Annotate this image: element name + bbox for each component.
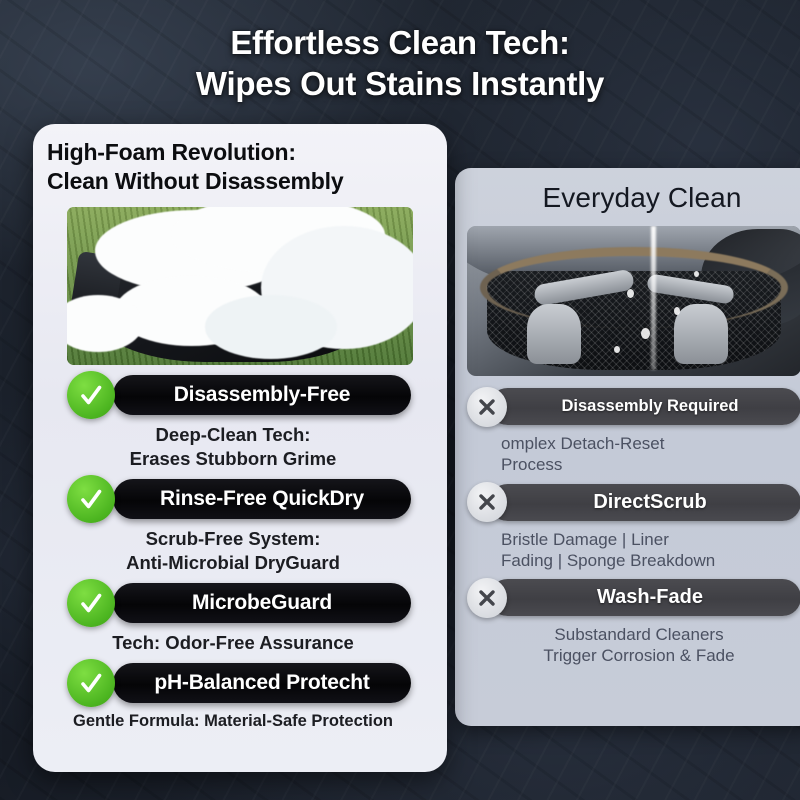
feature-item: Rinse-Free QuickDry Scrub-Free System: A…: [33, 479, 447, 583]
drawback-description: Bristle Damage | Liner Fading | Sponge B…: [467, 521, 800, 580]
feature-label: MicrobeGuard: [192, 591, 332, 615]
check-icon: [67, 475, 115, 523]
feature-desc-line-1: Deep-Clean Tech:: [53, 423, 413, 447]
feature-pill-2[interactable]: MicrobeGuard: [113, 583, 411, 623]
drawback-item: Disassembly Required omplex Detach-Reset…: [455, 388, 800, 484]
pro-title-line-1: High-Foam Revolution:: [47, 138, 433, 167]
drawback-description: omplex Detach-Reset Process: [467, 425, 800, 484]
drawback-desc-line-1: omplex Detach-Reset: [501, 433, 795, 454]
pro-title-line-2: Clean Without Disassembly: [47, 167, 433, 196]
drawback-desc-line-1: Bristle Damage | Liner: [501, 529, 795, 550]
check-icon: [67, 659, 115, 707]
feature-label: Disassembly-Free: [174, 383, 351, 407]
feature-desc-line-1: Tech: Odor-Free Assurance: [53, 631, 413, 655]
drawback-pill-0[interactable]: Disassembly Required: [489, 388, 800, 425]
drawback-desc-line-1: Substandard Cleaners: [487, 624, 791, 645]
headline-line-1: Effortless Clean Tech:: [0, 22, 800, 63]
close-icon: [467, 482, 507, 522]
feature-description: Scrub-Free System: Anti-Microbial DryGua…: [33, 519, 433, 583]
feature-description: Tech: Odor-Free Assurance: [33, 623, 433, 663]
drawback-label: DirectScrub: [571, 491, 718, 514]
dirty-helmet-liner-photo: [467, 226, 800, 376]
drawback-desc-line-2: Fading | Sponge Breakdown: [501, 550, 795, 571]
drawback-pill-1[interactable]: DirectScrub: [489, 484, 800, 521]
drawback-item: Wash-Fade Substandard Cleaners Trigger C…: [455, 579, 800, 675]
feature-description: Gentle Formula: Material-Safe Protection: [33, 703, 433, 740]
drawback-item: DirectScrub Bristle Damage | Liner Fadin…: [455, 484, 800, 580]
drawback-label: Disassembly Required: [540, 397, 751, 416]
close-icon: [467, 578, 507, 618]
con-panel-title: Everyday Clean: [455, 168, 800, 224]
feature-desc-line-1: Gentle Formula: Material-Safe Protection: [53, 711, 413, 732]
high-foam-revolution-panel: High-Foam Revolution: Clean Without Disa…: [33, 124, 447, 772]
close-icon: [467, 387, 507, 427]
check-icon: [67, 371, 115, 419]
feature-desc-line-1: Scrub-Free System:: [53, 527, 413, 551]
headline-line-2: Wipes Out Stains Instantly: [0, 63, 800, 104]
foam-covered-helmet-photo: [67, 207, 413, 365]
check-icon: [67, 579, 115, 627]
feature-item: pH-Balanced Protecht Gentle Formula: Mat…: [33, 663, 447, 740]
feature-pill-0[interactable]: Disassembly-Free: [113, 375, 411, 415]
feature-label: pH-Balanced Protecht: [154, 671, 369, 695]
drawback-desc-line-2: Trigger Corrosion & Fade: [487, 645, 791, 666]
feature-item: Disassembly-Free Deep-Clean Tech: Erases…: [33, 375, 447, 479]
feature-desc-line-2: Anti-Microbial DryGuard: [53, 551, 413, 575]
drawback-label: Wash-Fade: [575, 586, 715, 609]
everyday-clean-panel: Everyday Clean Disassembly Required ompl…: [455, 168, 800, 726]
pro-panel-title: High-Foam Revolution: Clean Without Disa…: [33, 124, 447, 203]
feature-pill-3[interactable]: pH-Balanced Protecht: [113, 663, 411, 703]
feature-desc-line-2: Erases Stubborn Grime: [53, 447, 413, 471]
page-title: Effortless Clean Tech: Wipes Out Stains …: [0, 22, 800, 105]
drawback-pill-2[interactable]: Wash-Fade: [489, 579, 800, 616]
feature-item: MicrobeGuard Tech: Odor-Free Assurance: [33, 583, 447, 663]
feature-label: Rinse-Free QuickDry: [160, 487, 364, 511]
feature-description: Deep-Clean Tech: Erases Stubborn Grime: [33, 415, 433, 479]
drawback-description: Substandard Cleaners Trigger Corrosion &…: [467, 616, 800, 675]
drawback-desc-line-2: Process: [501, 454, 795, 475]
feature-pill-1[interactable]: Rinse-Free QuickDry: [113, 479, 411, 519]
